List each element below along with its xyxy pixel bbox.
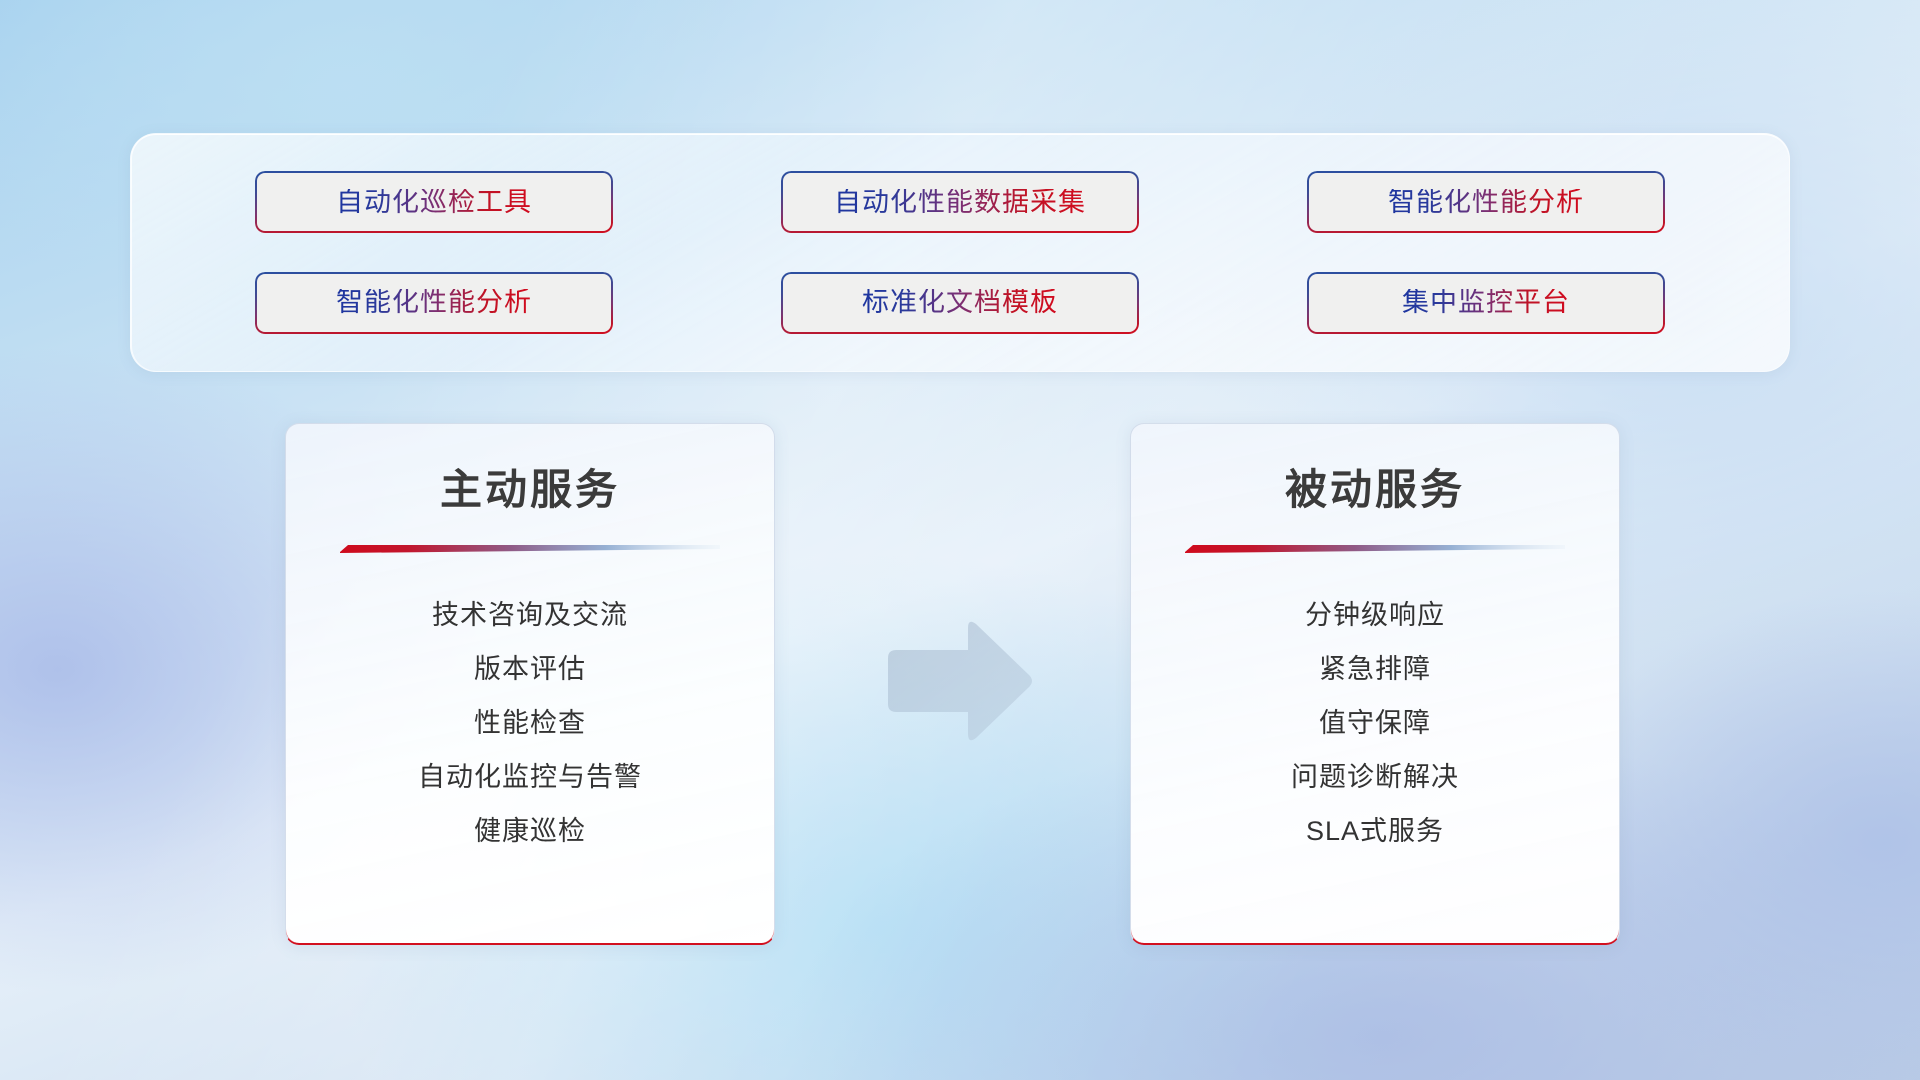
passive-service-list: 分钟级响应 紧急排障 值守保障 问题诊断解决 SLA式服务 <box>1131 555 1619 859</box>
active-service-title: 主动服务 <box>286 424 774 517</box>
capability-pill-6[interactable]: 集中监控平台 <box>1307 272 1665 334</box>
list-item: 性能检查 <box>286 697 774 751</box>
list-item: 问题诊断解决 <box>1131 751 1619 805</box>
capability-pill-5[interactable]: 标准化文档模板 <box>781 272 1139 334</box>
capability-grid: 自动化巡检工具 自动化性能数据采集 智能化性能分析 智能化性能分析 标准化文档模… <box>131 134 1789 371</box>
capability-pill-2[interactable]: 自动化性能数据采集 <box>781 171 1139 233</box>
arrow-right-icon <box>876 616 1036 746</box>
capability-pill-label: 自动化巡检工具 <box>336 189 532 216</box>
passive-service-card: 被动服务 分钟级响应 紧急排障 值守保障 问题诊断解决 <box>1130 423 1620 945</box>
passive-service-divider <box>1185 543 1565 555</box>
list-item: SLA式服务 <box>1131 805 1619 859</box>
passive-service-title: 被动服务 <box>1131 424 1619 517</box>
capability-panel: 自动化巡检工具 自动化性能数据采集 智能化性能分析 智能化性能分析 标准化文档模… <box>130 133 1790 372</box>
capability-pill-label: 集中监控平台 <box>1402 289 1570 316</box>
capability-pill-label: 智能化性能分析 <box>1388 189 1584 216</box>
active-service-divider <box>340 543 720 555</box>
active-service-list: 技术咨询及交流 版本评估 性能检查 自动化监控与告警 健康巡检 <box>286 555 774 859</box>
list-item: 值守保障 <box>1131 697 1619 751</box>
list-item: 技术咨询及交流 <box>286 589 774 643</box>
list-item: 紧急排障 <box>1131 643 1619 697</box>
capability-pill-1[interactable]: 自动化巡检工具 <box>255 171 613 233</box>
capability-pill-label: 标准化文档模板 <box>862 289 1058 316</box>
capability-pill-3[interactable]: 智能化性能分析 <box>1307 171 1665 233</box>
active-service-card: 主动服务 技术咨询及交流 版本评估 性能检查 自动化监控与告警 <box>285 423 775 945</box>
capability-pill-4[interactable]: 智能化性能分析 <box>255 272 613 334</box>
capability-pill-label: 智能化性能分析 <box>336 289 532 316</box>
list-item: 自动化监控与告警 <box>286 751 774 805</box>
list-item: 分钟级响应 <box>1131 589 1619 643</box>
capability-pill-label: 自动化性能数据采集 <box>834 189 1086 216</box>
list-item: 版本评估 <box>286 643 774 697</box>
slide-canvas: 自动化巡检工具 自动化性能数据采集 智能化性能分析 智能化性能分析 标准化文档模… <box>0 0 1920 1080</box>
list-item: 健康巡检 <box>286 805 774 859</box>
